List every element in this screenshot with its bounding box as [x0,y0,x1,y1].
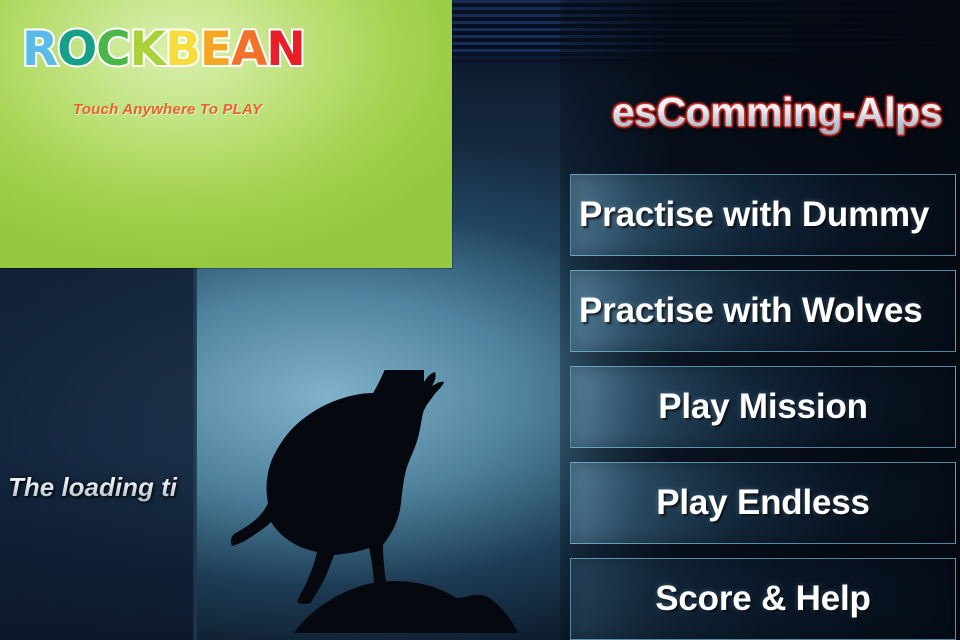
play-endless-button[interactable]: Play Endless [570,462,956,544]
logo-letter-2: C [96,22,130,77]
left-info-panel-edge [193,268,197,640]
game-menu-screen: esComming-Alps Practise with Dummy Pract… [0,0,960,640]
score-and-help-button[interactable]: Score & Help [570,558,956,640]
logo-letter-3: K [130,22,165,77]
logo-letter-1: O [57,22,96,77]
menu-button-label: Practise with Wolves [571,291,955,331]
play-mission-button[interactable]: Play Mission [570,366,956,448]
touch-to-play-hint: Touch Anywhere To PLAY [73,101,262,118]
logo-letter-0: R [22,22,57,77]
howling-wolf-silhouette-icon [228,370,518,640]
logo-letter-7: N [266,22,304,77]
left-info-panel [0,268,197,640]
logo-letter-6: A [231,22,266,77]
logo-letter-4: B [165,22,200,77]
menu-button-label: Play Endless [571,483,955,523]
logo-letter-5: E [200,22,231,77]
practise-with-wolves-button[interactable]: Practise with Wolves [570,270,956,352]
splash-overlay-panel[interactable]: ROCKBEAN Touch Anywhere To PLAY [0,0,452,268]
rockbean-logo: ROCKBEAN [22,22,305,77]
main-menu: Practise with Dummy Practise with Wolves… [570,174,956,640]
menu-button-label: Practise with Dummy [571,195,955,235]
practise-with-dummy-button[interactable]: Practise with Dummy [570,174,956,256]
menu-button-label: Play Mission [571,387,955,427]
loading-status-text: The loading ti [8,470,258,504]
menu-button-label: Score & Help [571,579,955,619]
